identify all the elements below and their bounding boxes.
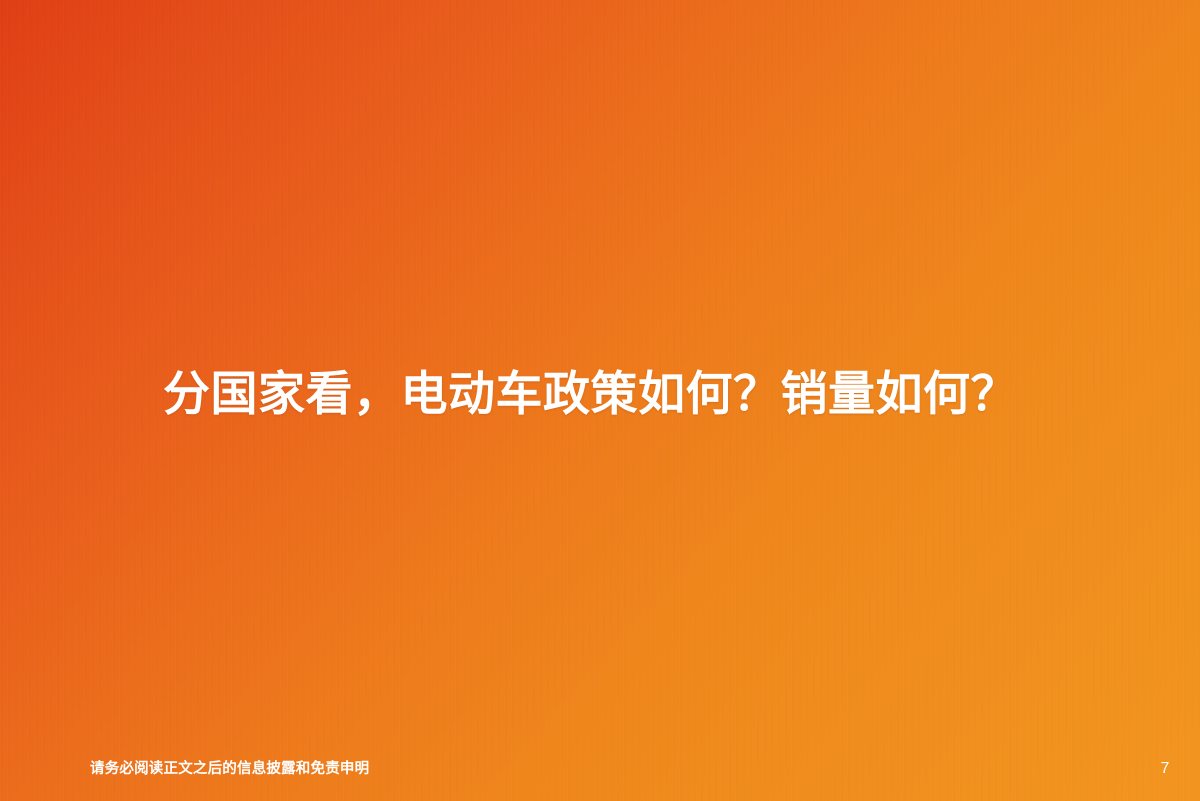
page-number: 7 [1148, 758, 1182, 780]
slide-title: 分国家看，电动车政策如何？销量如何？ [163, 364, 1103, 424]
footer-disclaimer-note: 请务必阅读正文之后的信息披露和免责申明 [90, 759, 369, 779]
slide-canvas: 分国家看，电动车政策如何？销量如何？ 请务必阅读正文之后的信息披露和免责申明 7 [0, 0, 1200, 801]
